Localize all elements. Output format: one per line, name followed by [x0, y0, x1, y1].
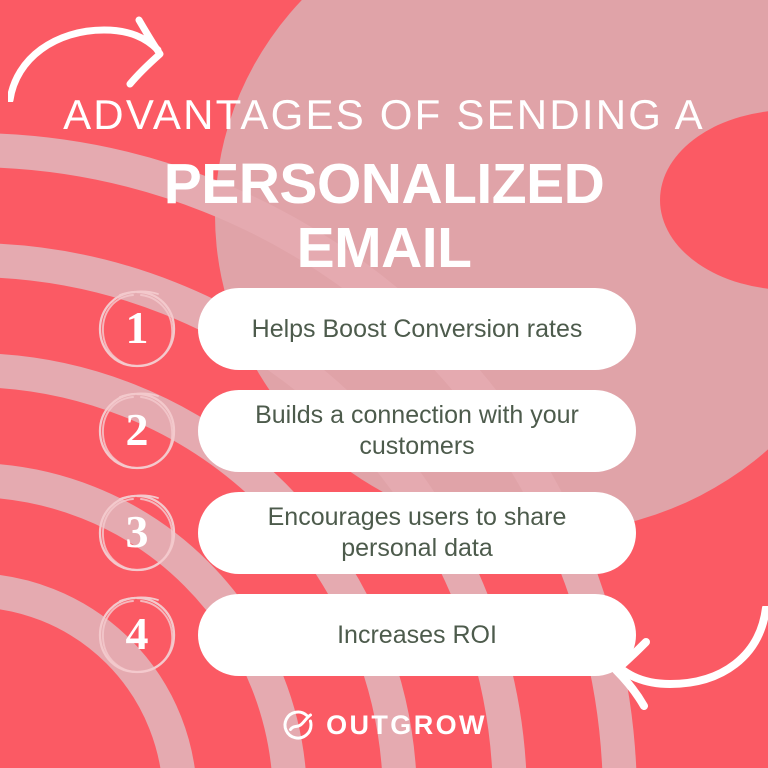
advantage-pill[interactable]: Encourages users to share personal data [198, 492, 636, 574]
page-title-line-1: PERSONALIZED [164, 152, 605, 216]
advantage-text: Helps Boost Conversion rates [252, 314, 583, 345]
page-title: PERSONALIZED EMAIL [0, 152, 768, 280]
list-item: 2 Builds a connection with your customer… [0, 390, 768, 472]
badge-number: 4 [96, 594, 178, 676]
advantage-pill[interactable]: Increases ROI [198, 594, 636, 676]
badge-number: 3 [96, 492, 178, 574]
brand-logo[interactable]: OUTGROW [0, 704, 768, 746]
list-item: 4 Increases ROI [0, 594, 768, 676]
advantage-pill[interactable]: Helps Boost Conversion rates [198, 288, 636, 370]
number-badge: 3 [96, 492, 178, 574]
list-item: 1 Helps Boost Conversion rates [0, 288, 768, 370]
number-badge: 1 [96, 288, 178, 370]
page-title-line-2: EMAIL [0, 216, 768, 280]
infographic-poster: ADVANTAGES OF SENDING A PERSONALIZED EMA… [0, 0, 768, 768]
advantage-text: Encourages users to share personal data [224, 502, 610, 564]
advantage-pill[interactable]: Builds a connection with your customers [198, 390, 636, 472]
brand-name: OUTGROW [326, 712, 487, 739]
advantages-list: 1 Helps Boost Conversion rates 2 Builds … [0, 288, 768, 696]
badge-number: 1 [96, 288, 178, 370]
number-badge: 2 [96, 390, 178, 472]
badge-number: 2 [96, 390, 178, 472]
list-item: 3 Encourages users to share personal dat… [0, 492, 768, 574]
advantage-text: Increases ROI [337, 620, 497, 651]
page-kicker: ADVANTAGES OF SENDING A [0, 90, 768, 140]
advantage-text: Builds a connection with your customers [224, 400, 610, 462]
number-badge: 4 [96, 594, 178, 676]
outgrow-logo-icon [281, 708, 315, 742]
